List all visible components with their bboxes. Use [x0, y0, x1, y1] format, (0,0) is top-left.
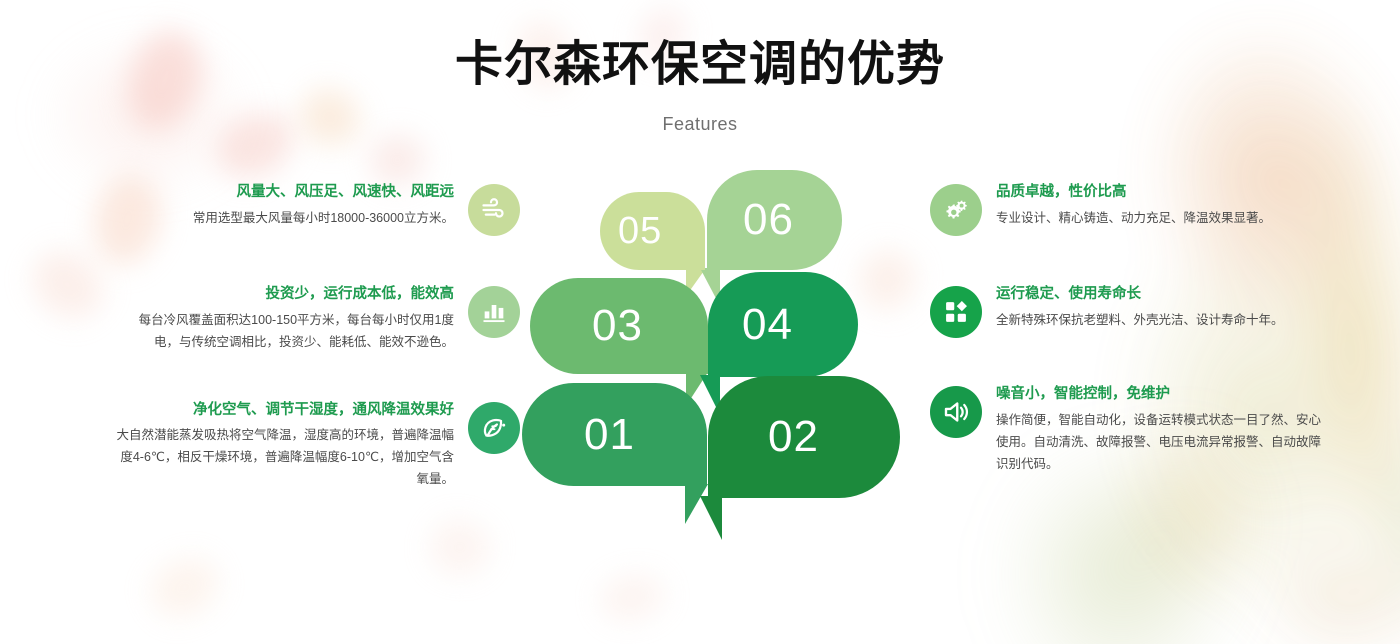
- feature-text-block: 品质卓越，性价比高 专业设计、精心铸造、动力充足、降温效果显著。: [982, 182, 1271, 230]
- feature-item-investment[interactable]: 投资少，运行成本低，能效高 每台冷风覆盖面积达100-150平方米，每台每小时仅…: [80, 284, 520, 354]
- petal-shape: [596, 569, 669, 627]
- feature-description: 全新特殊环保抗老塑料、外壳光洁、设计寿命十年。: [996, 310, 1284, 332]
- feature-description: 每台冷风覆盖面积达100-150平方米，每台每小时仅用1度电，与传统空调相比，投…: [114, 310, 454, 354]
- feature-item-low-noise[interactable]: 噪音小，智能控制，免维护 操作简便，智能自动化，设备运转模式状态一目了然、安心使…: [930, 384, 1330, 475]
- leaf-badge-02[interactable]: 02: [708, 376, 900, 498]
- leaf-tree-graphic: 05 06 03 04 01 02: [500, 170, 920, 540]
- leaf-badge-01[interactable]: 01: [522, 383, 707, 486]
- feature-title: 净化空气、调节干湿度，通风降温效果好: [114, 400, 454, 422]
- feature-item-stability[interactable]: 运行稳定、使用寿命长 全新特殊环保抗老塑料、外壳光洁、设计寿命十年。: [930, 284, 1330, 338]
- feature-title: 风量大、风压足、风速快、风距远: [193, 182, 454, 204]
- feature-text-block: 净化空气、调节干湿度，通风降温效果好 大自然潜能蒸发吸热将空气降温，湿度高的环境…: [114, 400, 468, 491]
- feature-item-quality[interactable]: 品质卓越，性价比高 专业设计、精心铸造、动力充足、降温效果显著。: [930, 182, 1330, 236]
- petal-shape: [141, 547, 229, 628]
- leaf-number-05: 05: [618, 212, 662, 250]
- page-subtitle: Features: [0, 114, 1400, 135]
- blocks-icon: [930, 286, 982, 338]
- feature-item-air-purification[interactable]: 净化空气、调节干湿度，通风降温效果好 大自然潜能蒸发吸热将空气降温，湿度高的环境…: [80, 400, 520, 491]
- leaf-badge-05[interactable]: 05: [600, 192, 705, 270]
- page-title: 卡尔森环保空调的优势: [0, 36, 1400, 94]
- feature-text-block: 风量大、风压足、风速快、风距远 常用选型最大风量每小时18000-36000立方…: [193, 182, 468, 230]
- wind-icon: [468, 184, 520, 236]
- speaker-icon: [930, 386, 982, 438]
- feature-description: 大自然潜能蒸发吸热将空气降温，湿度高的环境，普遍降温幅度4-6℃，相反干燥环境，…: [114, 425, 454, 491]
- bar-chart-icon: [468, 286, 520, 338]
- feature-title: 运行稳定、使用寿命长: [996, 284, 1284, 306]
- leaf-number-02: 02: [768, 415, 819, 459]
- feature-item-wind[interactable]: 风量大、风压足、风速快、风距远 常用选型最大风量每小时18000-36000立方…: [80, 182, 520, 236]
- leaf-number-01: 01: [584, 413, 635, 457]
- leaf-number-03: 03: [592, 304, 643, 348]
- feature-text-block: 投资少，运行成本低，能效高 每台冷风覆盖面积达100-150平方米，每台每小时仅…: [114, 284, 468, 354]
- feature-description: 专业设计、精心铸造、动力充足、降温效果显著。: [996, 208, 1271, 230]
- feature-title: 投资少，运行成本低，能效高: [114, 284, 454, 306]
- features-right-column: 品质卓越，性价比高 专业设计、精心铸造、动力充足、降温效果显著。 运行稳定、使用…: [930, 182, 1330, 513]
- feature-title: 品质卓越，性价比高: [996, 182, 1271, 204]
- leaf-badge-03[interactable]: 03: [530, 278, 708, 374]
- leaf-number-04: 04: [742, 303, 793, 347]
- petal-shape: [366, 131, 429, 190]
- feature-text-block: 噪音小，智能控制，免维护 操作简便，智能自动化，设备运转模式状态一目了然、安心使…: [982, 384, 1330, 475]
- feature-description: 操作简便，智能自动化，设备运转模式状态一目了然、安心使用。自动清洗、故障报警、电…: [996, 410, 1330, 476]
- feature-description: 常用选型最大风量每小时18000-36000立方米。: [193, 208, 454, 230]
- feature-title: 噪音小，智能控制，免维护: [996, 384, 1330, 406]
- features-left-column: 风量大、风压足、风速快、风距远 常用选型最大风量每小时18000-36000立方…: [80, 182, 520, 529]
- eco-leaf-icon: [468, 402, 520, 454]
- gears-icon: [930, 184, 982, 236]
- leaf-badge-04[interactable]: 04: [708, 272, 858, 377]
- infographic-page: 卡尔森环保空调的优势 Features 05 06 03 04 01 02: [0, 0, 1400, 644]
- leaf-badge-06[interactable]: 06: [707, 170, 842, 270]
- leaf-number-06: 06: [743, 198, 794, 242]
- feature-text-block: 运行稳定、使用寿命长 全新特殊环保抗老塑料、外壳光洁、设计寿命十年。: [982, 284, 1284, 332]
- header: 卡尔森环保空调的优势 Features: [0, 36, 1400, 135]
- leaf-stem-02: [700, 496, 722, 540]
